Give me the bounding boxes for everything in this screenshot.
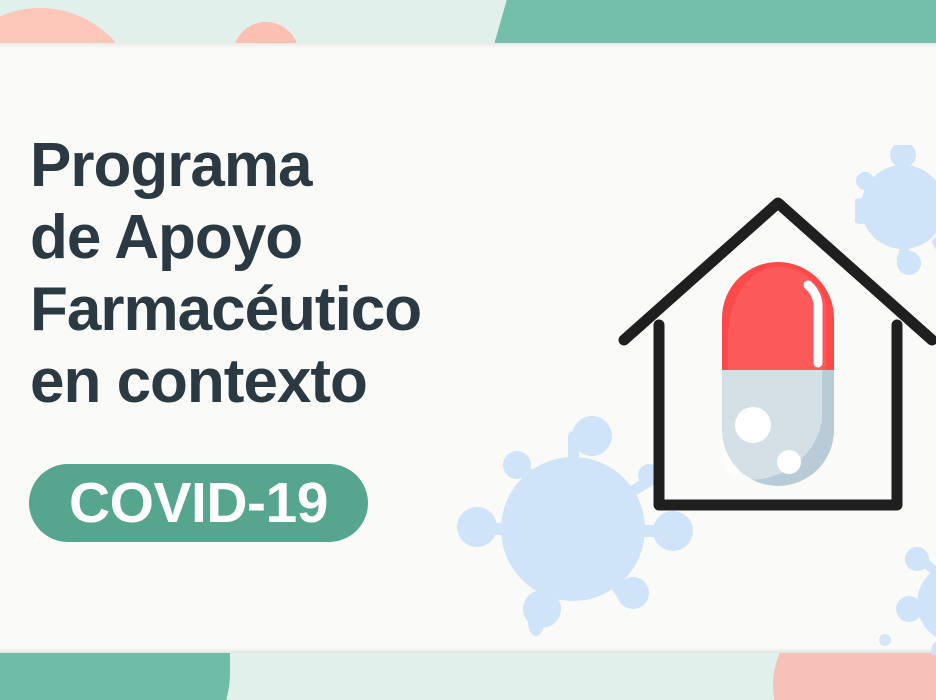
slide-canvas: Programa de Apoyo Farmacéutico en contex…	[0, 0, 936, 700]
covid-badge: COVID-19	[29, 464, 368, 542]
pink-circle-large-top-left	[0, 8, 140, 43]
virus-spike-dot-bottom	[524, 600, 554, 640]
green-parallelogram-top-right	[493, 0, 936, 43]
headline-line-2: de Apoyo	[30, 202, 421, 274]
page-title: Programa de Apoyo Farmacéutico en contex…	[30, 130, 421, 418]
top-band-shadow	[0, 43, 936, 48]
headline-line-3: Farmacéutico	[30, 274, 421, 346]
covid-badge-label: COVID-19	[69, 470, 328, 536]
green-circle-bottom-left	[0, 653, 230, 700]
house-with-pill-illustration	[612, 185, 936, 525]
headline-line-1: Programa	[30, 130, 421, 202]
top-decor-band	[0, 0, 936, 43]
pink-circle-small-top	[233, 22, 299, 43]
headline-line-4: en contexto	[30, 346, 421, 418]
capsule-pill-shape	[720, 262, 834, 486]
virus-icon-bottom-edge	[875, 620, 936, 690]
